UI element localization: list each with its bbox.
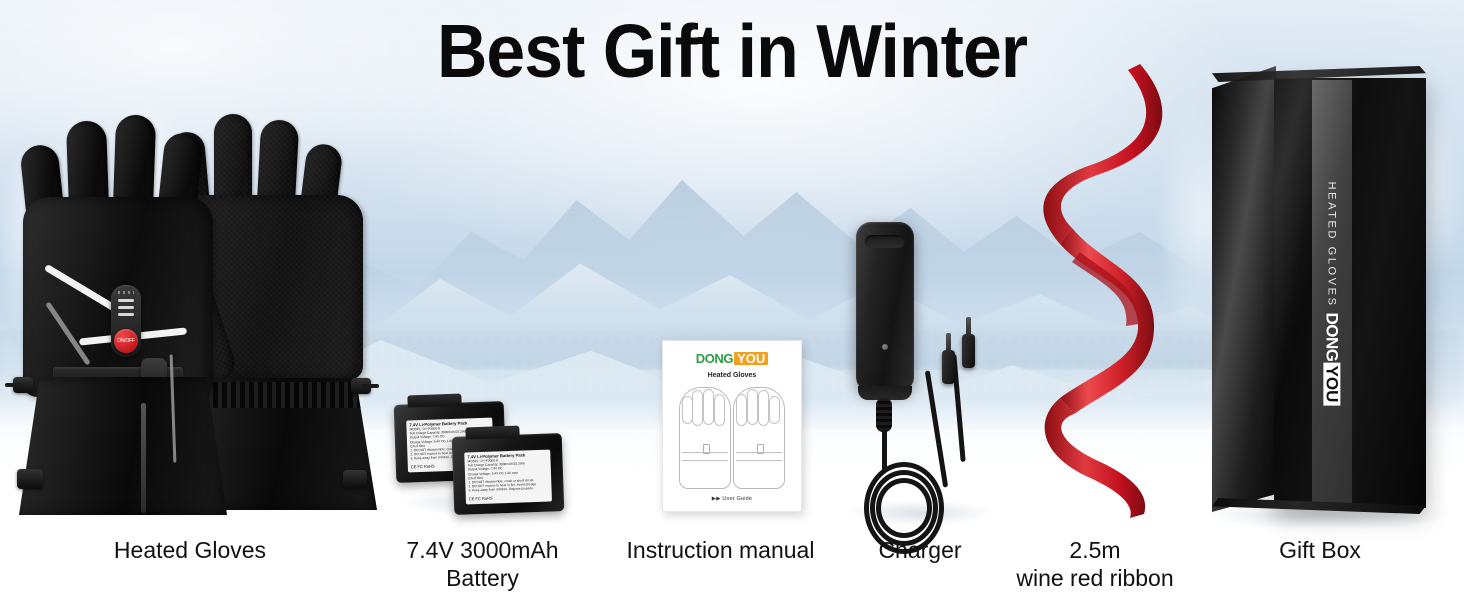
charger-vent-slot [865,235,905,248]
manual-logo-you: YOU [734,352,768,365]
glove-battery-zipper[interactable] [141,403,146,513]
manual-glove-strap-line [736,452,782,461]
ribbon-svg [1030,62,1190,522]
caption-gift-box: Gift Box [1235,536,1405,564]
manual-glove-right [733,387,785,489]
charger-dc-plug-2[interactable] [962,334,975,368]
charger-dc-plug-1[interactable] [942,350,955,384]
battery-connector-tab [465,426,519,440]
glove-led-bar-2 [118,306,134,309]
caption-heated-gloves: Heated Gloves [75,536,305,564]
giftbox-branding: HEATED GLOVES DONGYOU [1312,80,1352,506]
manual-glove-strap-line [682,452,728,461]
manual-glove-left [679,387,731,489]
product-infographic: Best Gift in Winter [0,0,1464,600]
charger-strain-relief [876,398,892,432]
caption-charger: Charger [845,536,995,564]
manual-logo-dong: DONG [696,352,733,365]
product-wine-red-ribbon [1030,62,1190,522]
giftbox-logo: DONGYOU [1324,312,1341,405]
battery-certification-marks: CE FC RoHS [469,493,549,501]
charger-cable-coil-inner [876,478,932,538]
battery-connector-tab [407,394,461,408]
charger-plug-pin [946,333,951,352]
manual-subtitle: Heated Gloves [708,372,757,379]
charger-plug-pin [966,317,971,336]
glove-back-side: ON/OFF [23,115,213,515]
giftbox-logo-dong: DONG [1324,312,1341,361]
product-battery-pack: 7.4V Li-Polymer Battery Pack MODEL: DY-P… [395,385,575,520]
caption-instruction-manual: Instruction manual [613,536,828,564]
battery-unit-2: 7.4V Li-Polymer Battery Pack MODEL: DY-P… [452,433,565,515]
glove-led-dots [118,291,134,294]
charger-status-led [882,344,888,350]
glove-power-button[interactable]: ON/OFF [114,329,138,353]
manual-glove-illustration [676,387,788,491]
glove-led-bar-3 [118,313,134,316]
caption-ribbon: 2.5m wine red ribbon [1000,536,1190,592]
glove-drawcord-left [5,383,23,387]
giftbox-logo-you: YOU [1324,362,1341,405]
glove-hem-toggle-left[interactable] [17,469,43,489]
product-gift-box: HEATED GLOVES DONGYOU [1208,66,1438,518]
charger-adapter-body [856,222,914,392]
manual-footer: ▶▶ User Guide [712,496,752,502]
product-heated-gloves: ON/OFF [18,110,363,525]
glove-led-bar-1 [118,299,134,302]
caption-battery: 7.4V 3000mAh Battery [375,536,590,592]
glove-controller[interactable]: ON/OFF [111,285,141,357]
giftbox-tagline: HEATED GLOVES [1326,181,1338,307]
glove-drawcord [361,384,379,388]
battery-label: 7.4V Li-Polymer Battery Pack MODEL: DY-P… [464,450,552,505]
manual-footer-label: User Guide [722,496,752,502]
manual-brand-logo: DONG YOU [696,352,769,365]
giftbox-side-panel [1212,66,1276,512]
glove-cuff-toggle[interactable] [343,470,367,488]
product-charger [838,222,1003,517]
charger-split-lead-1 [925,370,948,487]
product-instruction-manual: DONG YOU Heated Gloves ▶▶ Us [662,340,802,512]
play-arrow-icon: ▶▶ [712,496,723,502]
glove-cuff-back [19,377,227,515]
